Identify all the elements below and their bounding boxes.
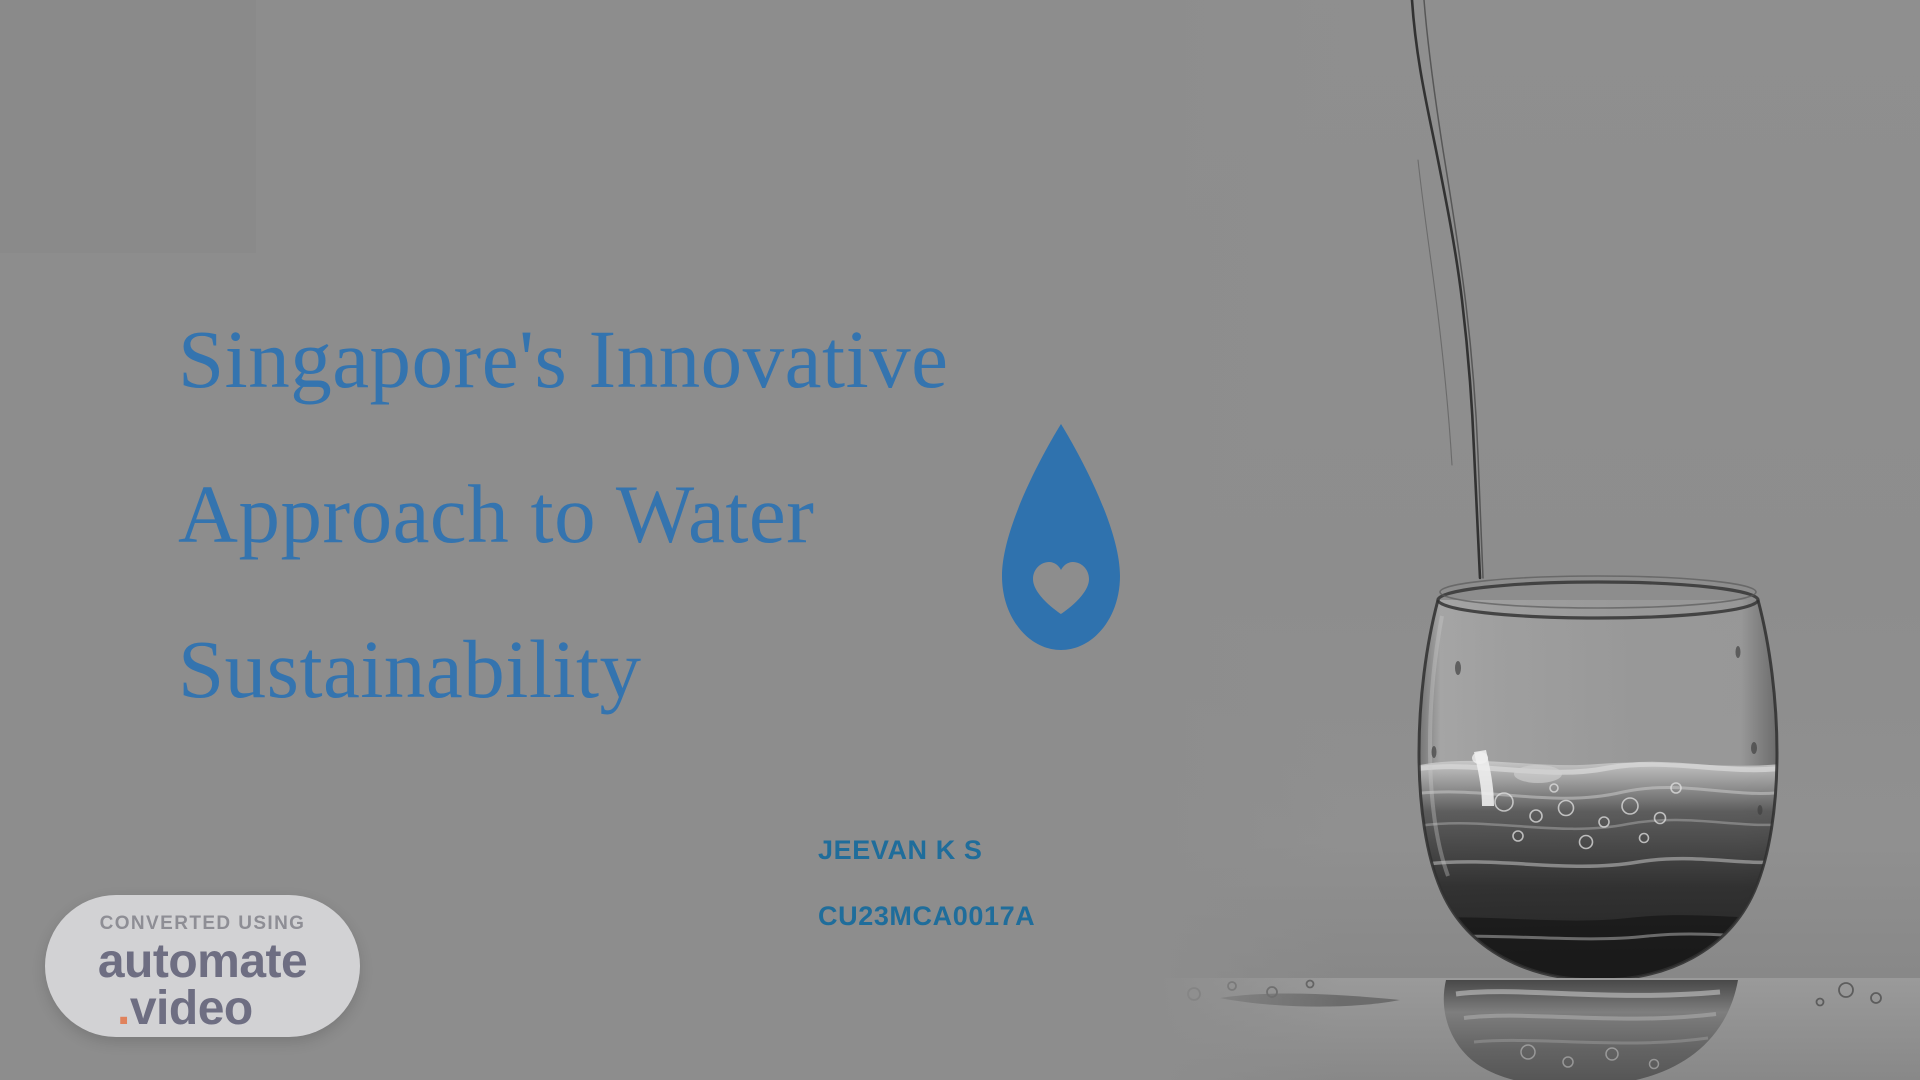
watermark-eyebrow: CONVERTED USING bbox=[45, 913, 360, 935]
water-drop-heart-icon bbox=[1000, 422, 1122, 654]
watermark-suffix: .video bbox=[45, 983, 360, 1035]
title-line-1: Singapore's Innovative bbox=[178, 282, 1188, 437]
watermark-brand: automate bbox=[45, 937, 360, 987]
watermark-suffix-text: video bbox=[130, 982, 253, 1035]
slide-canvas: Singapore's Innovative Approach to Water… bbox=[0, 0, 1920, 1080]
presenter-byline: JEEVAN K S CU23MCA0017A bbox=[818, 835, 1035, 932]
presenter-id: CU23MCA0017A bbox=[818, 901, 1035, 932]
watermark-dot: . bbox=[117, 982, 130, 1035]
water-glass-photo bbox=[1160, 0, 1920, 1080]
automate-video-watermark-badge[interactable]: CONVERTED USING automate .video bbox=[45, 895, 360, 1037]
presenter-name: JEEVAN K S bbox=[818, 835, 1035, 866]
corner-placeholder-block bbox=[0, 0, 256, 253]
